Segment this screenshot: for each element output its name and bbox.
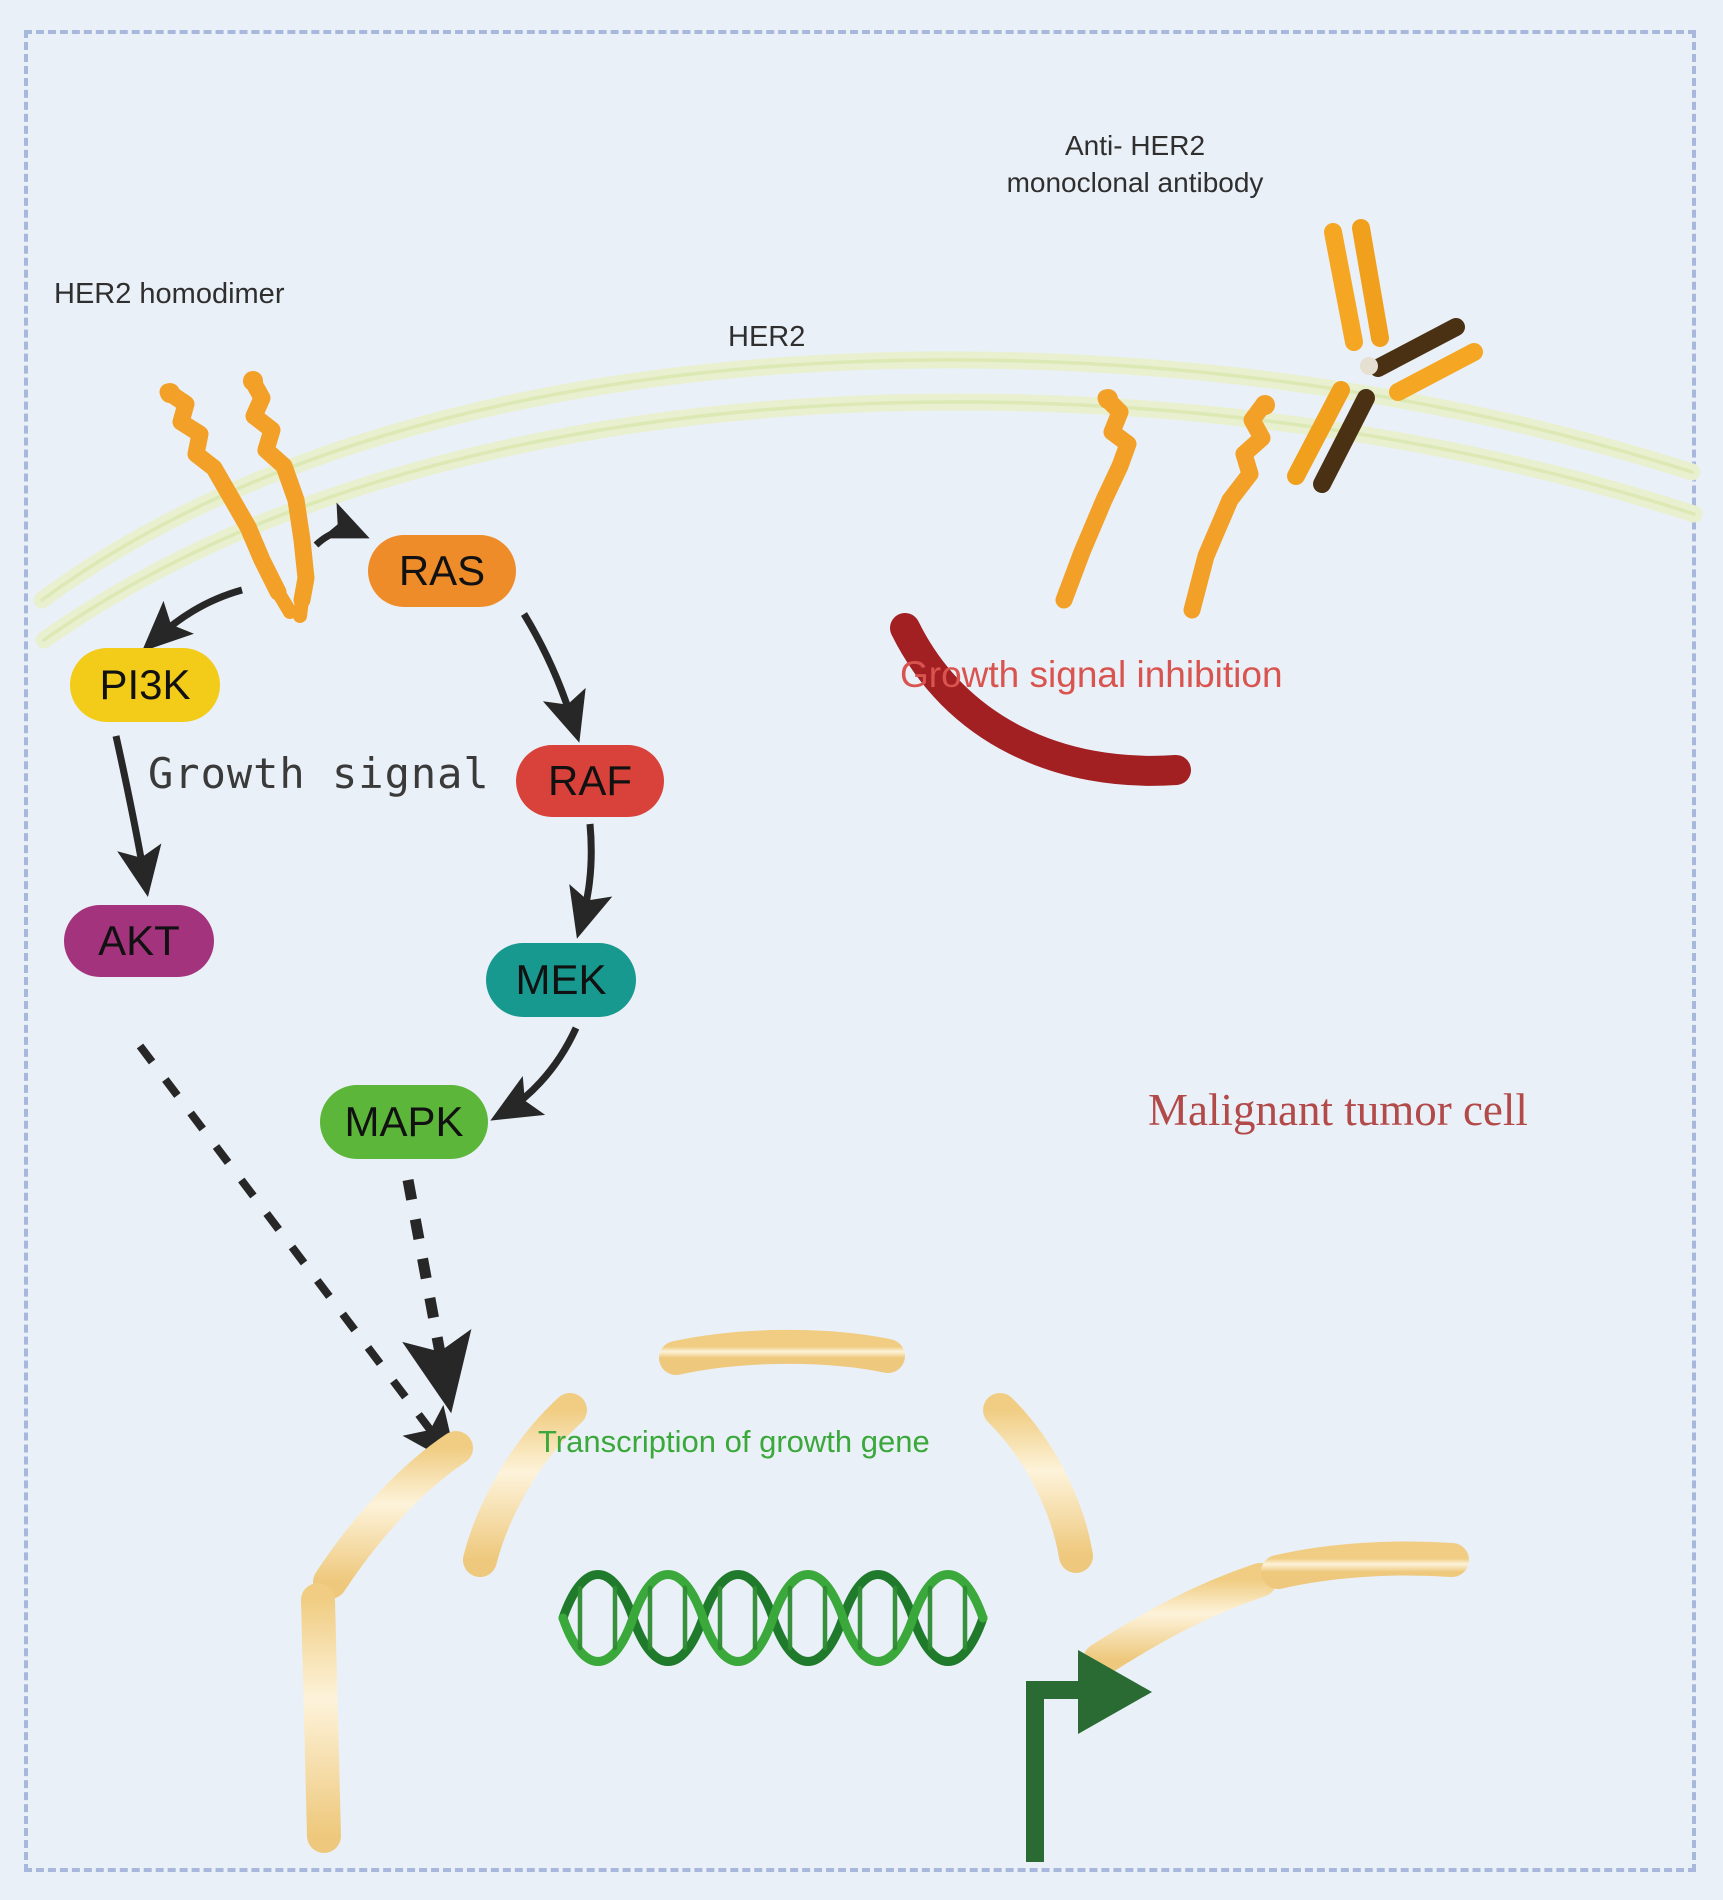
node-pi3k-label: PI3K xyxy=(99,661,190,709)
arrow-mapk-to-nucleus xyxy=(408,1180,448,1396)
node-ras[interactable]: RAS xyxy=(368,535,516,607)
figure-canvas: RAS PI3K RAF AKT MEK MAPK HER2 homodimer… xyxy=(0,0,1723,1900)
label-antibody-line1: Anti- HER2 xyxy=(970,128,1300,165)
pathway-arrows xyxy=(116,531,591,1115)
label-her2: HER2 xyxy=(728,320,805,355)
arrow-her2-to-ras xyxy=(316,531,362,545)
her2-receptor-bound xyxy=(1192,395,1275,610)
node-mek-label: MEK xyxy=(515,956,606,1004)
nucleus-membrane xyxy=(318,1347,1452,1836)
her2-receptor-unbound xyxy=(1064,389,1128,600)
node-raf-label: RAF xyxy=(548,757,632,805)
label-growth-signal-inhibition: Growth signal inhibition xyxy=(900,652,1283,697)
node-raf[interactable]: RAF xyxy=(516,745,664,817)
transcription-arrow xyxy=(1035,1650,1152,1862)
label-growth-signal: Growth signal xyxy=(148,748,490,799)
arrow-her2-to-pi3k xyxy=(150,590,242,644)
arrow-mek-to-mapk xyxy=(500,1028,576,1115)
arrow-raf-to-mek xyxy=(580,824,591,928)
node-ras-label: RAS xyxy=(399,547,485,595)
label-her2-homodimer: HER2 homodimer xyxy=(54,277,284,312)
label-antibody-line2: monoclonal antibody xyxy=(970,165,1300,202)
node-mapk-label: MAPK xyxy=(344,1098,463,1146)
node-mek[interactable]: MEK xyxy=(486,943,636,1017)
label-transcription: Transcription of growth gene xyxy=(538,1423,930,1461)
node-pi3k[interactable]: PI3K xyxy=(70,648,220,722)
her2-homodimer-receptor xyxy=(160,371,306,616)
node-akt-label: AKT xyxy=(98,917,180,965)
arrow-ras-to-raf xyxy=(524,614,576,732)
dna-double-helix xyxy=(563,1575,983,1662)
label-malignant-tumor-cell: Malignant tumor cell xyxy=(1148,1083,1528,1138)
inhibition-arc xyxy=(905,628,1176,771)
node-mapk[interactable]: MAPK xyxy=(320,1085,488,1159)
node-akt[interactable]: AKT xyxy=(64,905,214,977)
arrow-pi3k-to-akt xyxy=(116,736,146,886)
label-antibody: Anti- HER2 monoclonal antibody xyxy=(970,128,1300,202)
